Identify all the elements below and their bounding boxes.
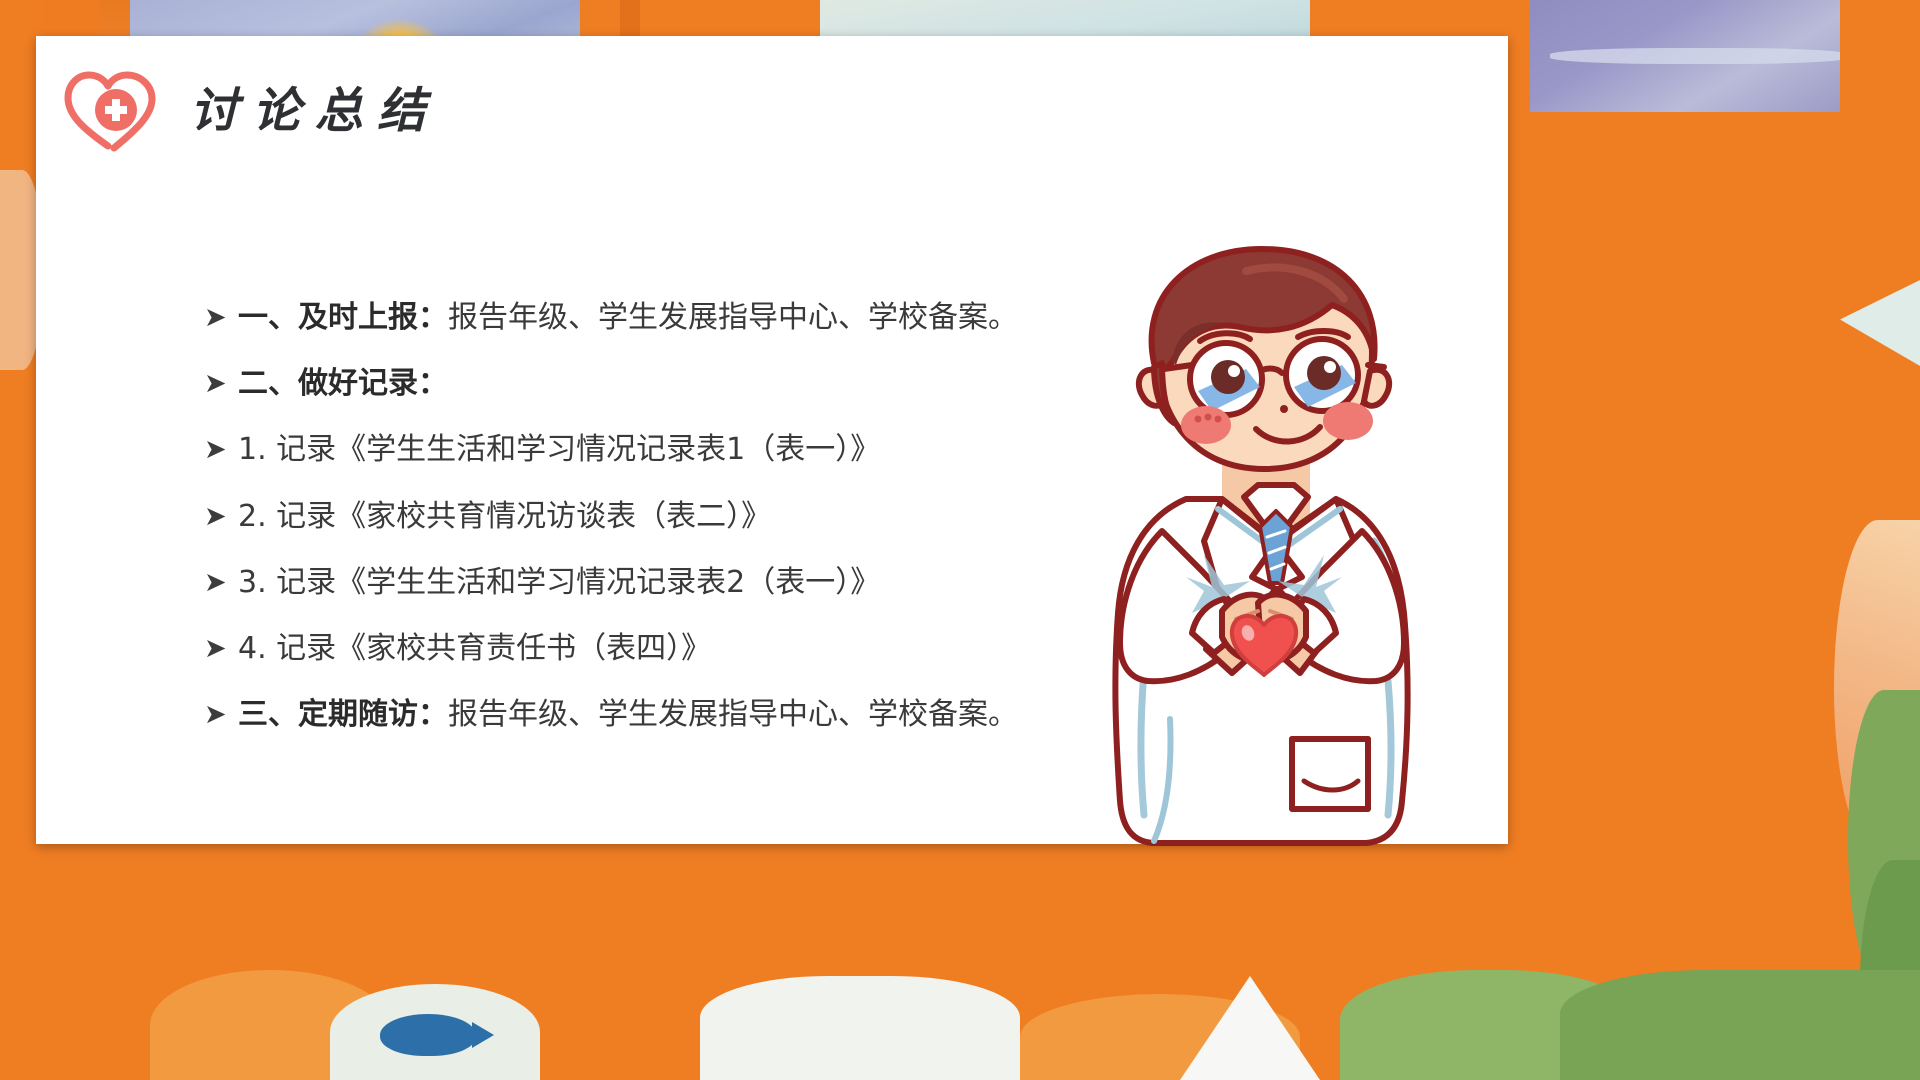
list-item-lead: 三、定期随访： [238,697,448,732]
list-item-text: 2. 记录《家校共育情况访谈表（表二）》 [238,497,771,537]
list-item-rest: 报告年级、学生发展指导中心、学校备案。 [448,300,1018,335]
slide-root: 讨论总结 ➤ 一、及时上报：报告年级、学生发展指导中心、学校备案。 ➤ 二、做好… [0,0,1920,1080]
list-item-rest: 2. 记录《家校共育情况访谈表（表二）》 [238,499,771,534]
arrow-bullet-icon: ➤ [204,436,238,463]
arrow-bullet-icon: ➤ [204,370,238,397]
deco-bottom-white-triangle [1180,976,1320,1080]
list-item-rest: 1. 记录《学生生活和学习情况记录表1（表一）》 [238,432,880,467]
slide-header: 讨论总结 [62,58,440,162]
list-item-rest: 报告年级、学生发展指导中心、学校备案。 [448,697,1018,732]
arrow-bullet-icon: ➤ [204,503,238,530]
list-item-text: 一、及时上报：报告年级、学生发展指导中心、学校备案。 [238,298,1018,338]
content-card: 讨论总结 ➤ 一、及时上报：报告年级、学生发展指导中心、学校备案。 ➤ 二、做好… [36,36,1508,844]
list-item-text: 3. 记录《学生生活和学习情况记录表2（表一）》 [238,563,880,603]
list-item-text: 二、做好记录： [238,364,448,404]
list-item-rest: 3. 记录《学生生活和学习情况记录表2（表一）》 [238,565,880,600]
list-item-lead: 二、做好记录： [238,366,448,401]
list-item-text: 1. 记录《学生生活和学习情况记录表1（表一）》 [238,430,880,470]
list-item-text: 三、定期随访：报告年级、学生发展指导中心、学校备案。 [238,695,1018,735]
page-title: 讨论总结 [190,84,440,136]
arrow-bullet-icon: ➤ [204,635,238,662]
cartoon-doctor-illustration [1036,241,1496,856]
list-item-rest: 4. 记录《家校共育责任书（表四）》 [238,631,711,666]
arrow-bullet-icon: ➤ [204,304,238,331]
list-item-text: 4. 记录《家校共育责任书（表四）》 [238,629,711,669]
arrow-bullet-icon: ➤ [204,701,238,728]
heart-medical-cross-icon [62,66,160,154]
deco-bottom-pale-blob [700,976,1020,1080]
arrow-bullet-icon: ➤ [204,569,238,596]
list-item-lead: 一、及时上报： [238,300,448,335]
deco-bottom-blue-fish [380,1014,476,1056]
deco-bottom-green-2 [1560,970,1920,1080]
